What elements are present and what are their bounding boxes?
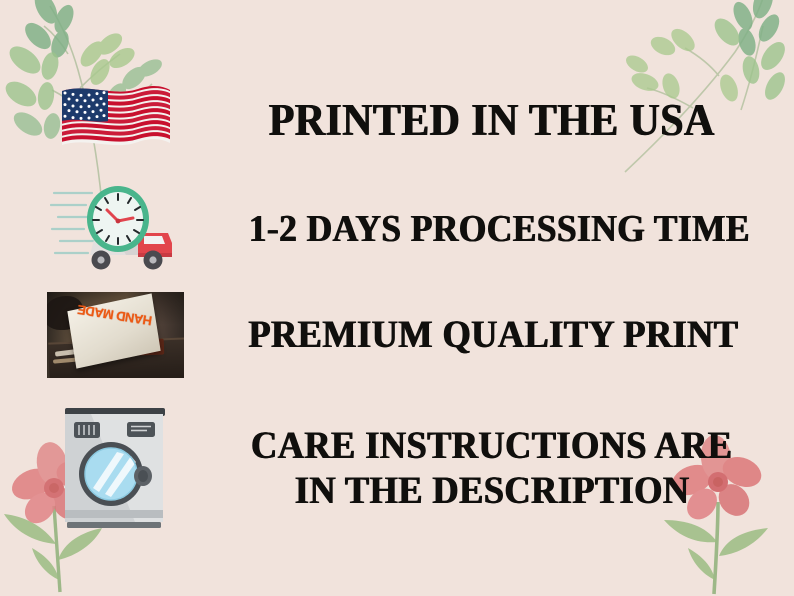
text-cell-premium-quality: PREMIUM QUALITY PRINT	[230, 312, 794, 357]
icon-cell-flag	[0, 81, 230, 159]
icon-cell-print: HAND MADE	[0, 292, 230, 378]
text-cell-printed-in-usa: PRINTED IN THE USA	[230, 94, 794, 146]
headline-processing-time: 1-2 DAYS PROCESSING TIME	[249, 207, 750, 251]
info-row-premium-quality: HAND MADE PREMIUM QUALITY PRINT	[0, 288, 794, 382]
info-row-printed-in-usa: PRINTED IN THE USA	[0, 74, 794, 166]
headline-printed-in-usa: PRINTED IN THE USA	[269, 94, 715, 146]
usa-flag-icon	[58, 81, 173, 159]
fast-delivery-clock-icon	[50, 181, 180, 277]
headline-care-instructions-line2: IN THE DESCRIPTION	[295, 468, 690, 513]
clock-face	[87, 186, 149, 252]
headline-care-instructions-line1: CARE INSTRUCTIONS ARE	[251, 423, 732, 468]
washing-machine-icon	[61, 404, 169, 532]
icon-cell-washer	[0, 404, 230, 532]
screen-print-photo: HAND MADE	[47, 292, 184, 378]
info-row-processing-time: 1-2 DAYS PROCESSING TIME	[0, 181, 794, 277]
text-cell-care-instructions: CARE INSTRUCTIONS ARE IN THE DESCRIPTION	[230, 423, 794, 513]
text-cell-processing-time: 1-2 DAYS PROCESSING TIME	[230, 207, 794, 251]
info-row-care-instructions: CARE INSTRUCTIONS ARE IN THE DESCRIPTION	[0, 398, 794, 538]
icon-cell-delivery	[0, 181, 230, 277]
info-graphic-canvas: PRINTED IN THE USA	[0, 0, 794, 596]
headline-premium-quality: PREMIUM QUALITY PRINT	[248, 312, 738, 357]
